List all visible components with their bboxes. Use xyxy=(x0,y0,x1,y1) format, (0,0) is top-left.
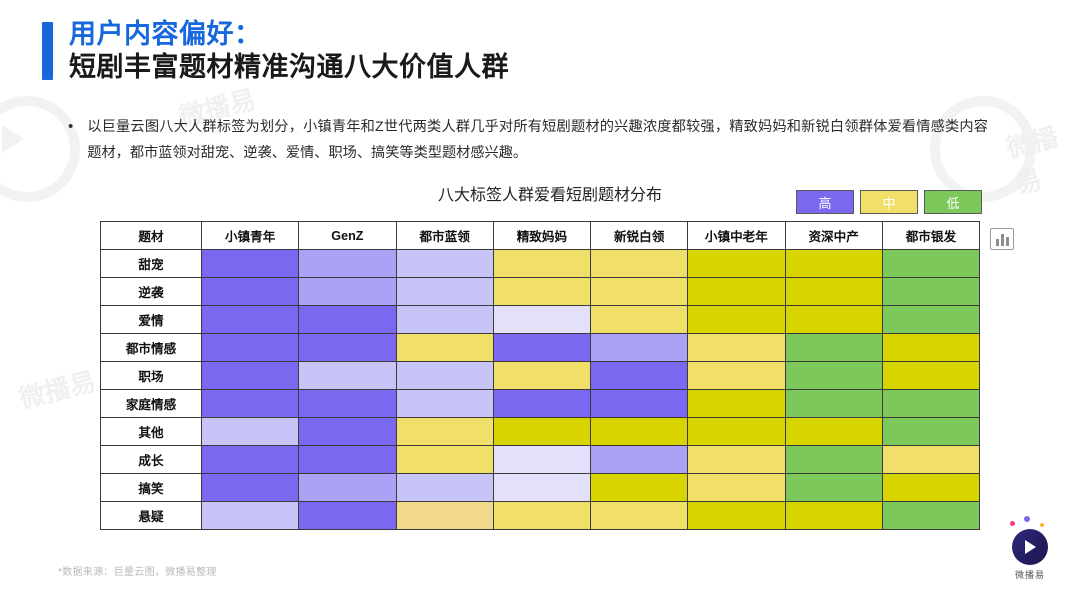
heatmap-cell[interactable] xyxy=(202,418,299,446)
heatmap-cell[interactable] xyxy=(688,446,785,474)
heatmap-cell[interactable] xyxy=(493,502,590,530)
summary-text: 以巨量云图八大人群标签为划分，小镇青年和Z世代两类人群几乎对所有短剧题材的兴趣浓… xyxy=(87,114,988,166)
heatmap-cell[interactable] xyxy=(688,502,785,530)
table-row: 其他 xyxy=(101,418,980,446)
row-header-5: 家庭情感 xyxy=(101,390,202,418)
heatmap-cell[interactable] xyxy=(688,250,785,278)
heatmap-cell[interactable] xyxy=(882,334,979,362)
column-header-topic: 题材 xyxy=(101,222,202,250)
heatmap-cell[interactable] xyxy=(882,474,979,502)
heatmap-cell[interactable] xyxy=(299,362,396,390)
heatmap-cell[interactable] xyxy=(493,278,590,306)
heatmap-cell[interactable] xyxy=(591,474,688,502)
heatmap-cell[interactable] xyxy=(299,474,396,502)
table-row: 搞笑 xyxy=(101,474,980,502)
heatmap-cell[interactable] xyxy=(591,334,688,362)
heatmap-cell[interactable] xyxy=(591,362,688,390)
heatmap-cell[interactable] xyxy=(591,418,688,446)
column-header-3: 精致妈妈 xyxy=(493,222,590,250)
heatmap-cell[interactable] xyxy=(785,362,882,390)
heatmap-cell[interactable] xyxy=(299,306,396,334)
legend-item-1[interactable]: 中 xyxy=(860,190,918,214)
heatmap-cell[interactable] xyxy=(493,334,590,362)
heatmap-cell[interactable] xyxy=(202,474,299,502)
heatmap-cell[interactable] xyxy=(299,390,396,418)
heatmap-cell[interactable] xyxy=(493,306,590,334)
table-row: 家庭情感 xyxy=(101,390,980,418)
bar-chart-icon[interactable] xyxy=(990,228,1014,250)
heatmap-cell[interactable] xyxy=(688,278,785,306)
heatmap-cell[interactable] xyxy=(785,250,882,278)
heatmap-cell[interactable] xyxy=(202,362,299,390)
heatmap-cell[interactable] xyxy=(493,474,590,502)
row-header-7: 成长 xyxy=(101,446,202,474)
title-accent-bar xyxy=(42,22,53,80)
heatmap-cell[interactable] xyxy=(882,502,979,530)
heatmap-cell[interactable] xyxy=(202,390,299,418)
title-line-2: 短剧丰富题材精准沟通八大价值人群 xyxy=(69,50,509,84)
bullet-marker: • xyxy=(68,114,73,166)
source-footnote: *数据来源：巨量云图，微播易整理 xyxy=(58,563,217,578)
heatmap-cell[interactable] xyxy=(202,334,299,362)
heatmap-cell[interactable] xyxy=(688,306,785,334)
column-header-4: 新锐白领 xyxy=(591,222,688,250)
heatmap-cell[interactable] xyxy=(299,418,396,446)
column-header-0: 小镇青年 xyxy=(202,222,299,250)
row-header-8: 搞笑 xyxy=(101,474,202,502)
table-row: 爱情 xyxy=(101,306,980,334)
table-row: 职场 xyxy=(101,362,980,390)
heatmap-cell[interactable] xyxy=(299,334,396,362)
heatmap-cell[interactable] xyxy=(591,278,688,306)
page-title: 用户内容偏好： 短剧丰富题材精准沟通八大价值人群 xyxy=(42,18,509,84)
row-header-0: 甜宠 xyxy=(101,250,202,278)
row-header-4: 职场 xyxy=(101,362,202,390)
brand-logo: 微播易 xyxy=(1002,529,1058,581)
heatmap-cell[interactable] xyxy=(591,390,688,418)
heatmap-cell[interactable] xyxy=(299,502,396,530)
heatmap-cell[interactable] xyxy=(396,334,493,362)
heatmap-cell[interactable] xyxy=(396,306,493,334)
heatmap-cell[interactable] xyxy=(591,250,688,278)
logo-dot-a xyxy=(1010,521,1015,526)
heatmap-cell[interactable] xyxy=(591,502,688,530)
heatmap-cell[interactable] xyxy=(785,306,882,334)
heatmap-cell[interactable] xyxy=(882,390,979,418)
table-row: 成长 xyxy=(101,446,980,474)
heatmap-cell[interactable] xyxy=(688,390,785,418)
heatmap-cell[interactable] xyxy=(785,502,882,530)
heatmap-cell[interactable] xyxy=(785,334,882,362)
row-header-1: 逆袭 xyxy=(101,278,202,306)
logo-dot-b xyxy=(1024,516,1030,522)
heatmap-cell[interactable] xyxy=(396,362,493,390)
column-header-1: GenZ xyxy=(299,222,396,250)
heatmap-cell[interactable] xyxy=(785,446,882,474)
legend-item-2[interactable]: 低 xyxy=(924,190,982,214)
heatmap-cell[interactable] xyxy=(202,306,299,334)
heatmap-cell[interactable] xyxy=(202,250,299,278)
heatmap-table: 题材 小镇青年GenZ都市蓝领精致妈妈新锐白领小镇中老年资深中产都市银发 甜宠逆… xyxy=(100,221,980,530)
heatmap-cell[interactable] xyxy=(882,418,979,446)
heatmap-cell[interactable] xyxy=(785,474,882,502)
table-row: 逆袭 xyxy=(101,278,980,306)
heatmap-cell[interactable] xyxy=(396,502,493,530)
table-row: 都市情感 xyxy=(101,334,980,362)
logo-label: 微播易 xyxy=(1002,568,1058,581)
column-header-7: 都市银发 xyxy=(882,222,979,250)
heatmap-cell[interactable] xyxy=(688,418,785,446)
table-header-row: 题材 小镇青年GenZ都市蓝领精致妈妈新锐白领小镇中老年资深中产都市银发 xyxy=(101,222,980,250)
title-line-1: 用户内容偏好： xyxy=(69,18,509,50)
watermark-play-left xyxy=(2,125,24,153)
heatmap-cell[interactable] xyxy=(591,306,688,334)
heatmap-cell[interactable] xyxy=(493,418,590,446)
heatmap-cell[interactable] xyxy=(591,446,688,474)
row-header-3: 都市情感 xyxy=(101,334,202,362)
column-header-2: 都市蓝领 xyxy=(396,222,493,250)
heatmap-cell[interactable] xyxy=(882,446,979,474)
heatmap-cell[interactable] xyxy=(299,278,396,306)
heatmap-cell[interactable] xyxy=(688,334,785,362)
heatmap-cell[interactable] xyxy=(785,418,882,446)
heatmap-cell[interactable] xyxy=(396,474,493,502)
logo-dot-c xyxy=(1040,523,1044,527)
watermark-text-left: 微播易 xyxy=(15,361,100,416)
table-row: 甜宠 xyxy=(101,250,980,278)
legend-item-0[interactable]: 高 xyxy=(796,190,854,214)
heatmap-cell[interactable] xyxy=(493,390,590,418)
heatmap-cell[interactable] xyxy=(396,390,493,418)
heatmap-cell[interactable] xyxy=(493,362,590,390)
row-header-9: 悬疑 xyxy=(101,502,202,530)
heatmap-cell[interactable] xyxy=(202,502,299,530)
heatmap-cell[interactable] xyxy=(396,446,493,474)
heatmap-cell[interactable] xyxy=(493,250,590,278)
heatmap-cell[interactable] xyxy=(396,250,493,278)
column-header-5: 小镇中老年 xyxy=(688,222,785,250)
row-header-2: 爱情 xyxy=(101,306,202,334)
heatmap-cell[interactable] xyxy=(785,390,882,418)
heatmap-legend: 高中低 xyxy=(796,190,982,214)
heatmap-cell[interactable] xyxy=(396,418,493,446)
heatmap-cell[interactable] xyxy=(299,250,396,278)
heatmap-cell[interactable] xyxy=(202,446,299,474)
heatmap-cell[interactable] xyxy=(882,278,979,306)
heatmap-cell[interactable] xyxy=(882,250,979,278)
heatmap-cell[interactable] xyxy=(688,474,785,502)
heatmap-cell[interactable] xyxy=(396,278,493,306)
row-header-6: 其他 xyxy=(101,418,202,446)
heatmap-cell[interactable] xyxy=(202,278,299,306)
logo-play-badge xyxy=(1012,529,1048,565)
heatmap-cell[interactable] xyxy=(688,362,785,390)
heatmap-cell[interactable] xyxy=(882,306,979,334)
table-row: 悬疑 xyxy=(101,502,980,530)
heatmap-cell[interactable] xyxy=(882,362,979,390)
summary-paragraph: • 以巨量云图八大人群标签为划分，小镇青年和Z世代两类人群几乎对所有短剧题材的兴… xyxy=(68,114,988,166)
heatmap-cell[interactable] xyxy=(299,446,396,474)
heatmap-cell[interactable] xyxy=(493,446,590,474)
heatmap-cell[interactable] xyxy=(785,278,882,306)
column-header-6: 资深中产 xyxy=(785,222,882,250)
